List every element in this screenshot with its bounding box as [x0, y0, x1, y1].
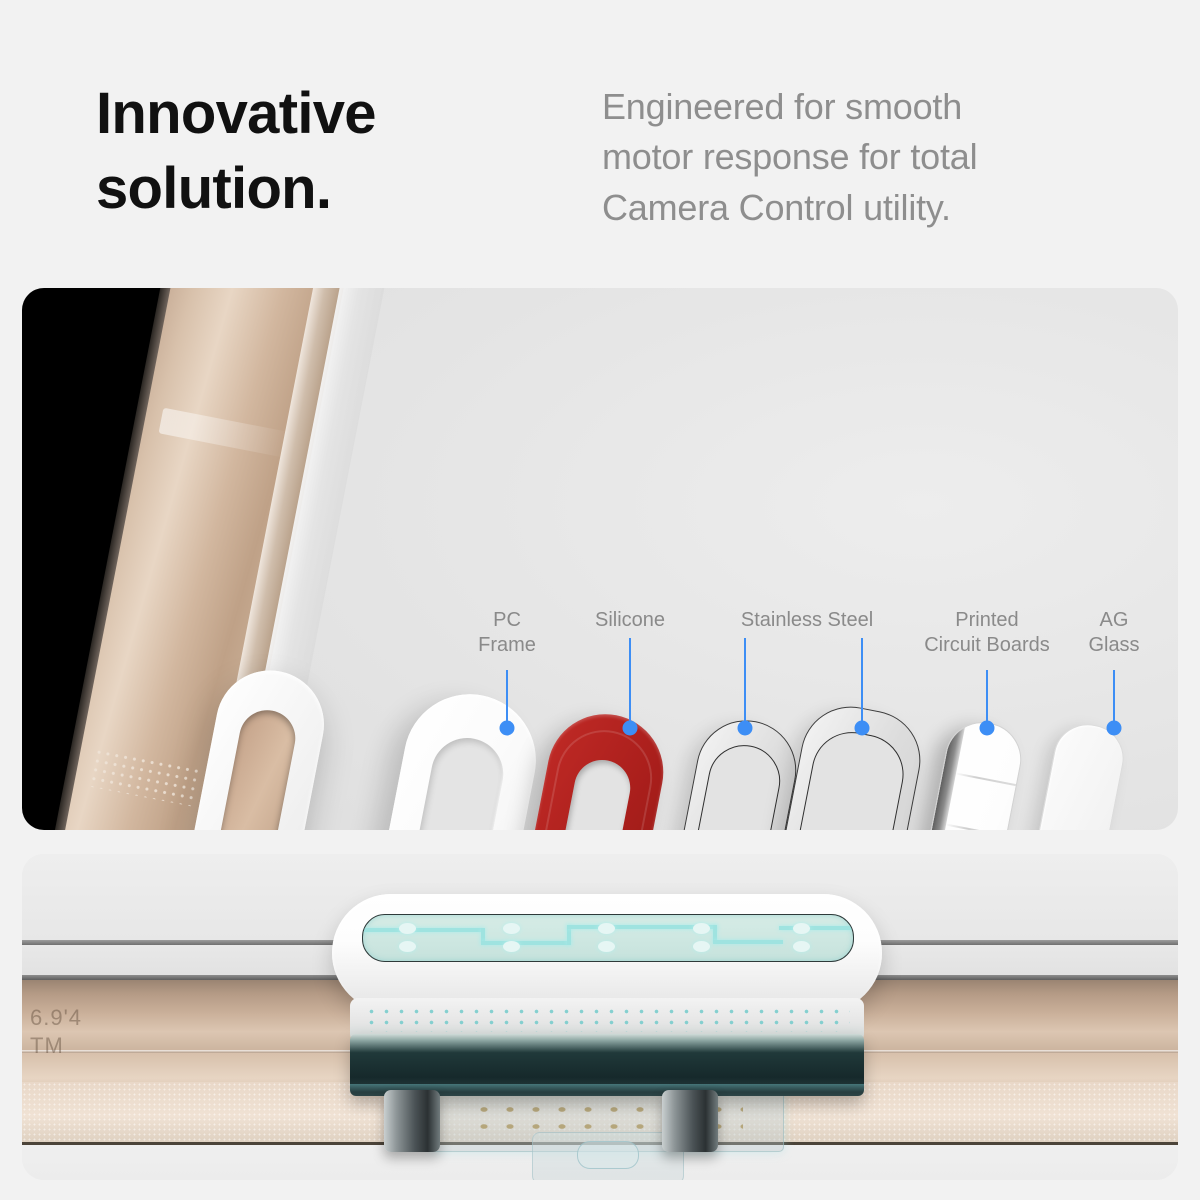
- circuit-pad: [503, 941, 520, 952]
- callout-line-ag-glass: [1113, 670, 1115, 726]
- circuit-trace: [363, 928, 483, 932]
- callout-label-printed-circuit-boards: Printed Circuit Boards: [924, 608, 1050, 658]
- pcb-segment-divider: [955, 772, 1016, 785]
- button-support-pillar: [384, 1090, 440, 1152]
- callout-line-stainless-steel-2: [861, 638, 863, 726]
- callout-label-pc-frame: PC Frame: [478, 608, 536, 658]
- callout-dot-silicone: [623, 721, 638, 736]
- circuit-pad: [693, 923, 710, 934]
- callout-dot-printed-circuit-boards: [980, 721, 995, 736]
- callout-dot-stainless-steel-1: [738, 721, 753, 736]
- callout-line-pc-frame: [506, 670, 508, 726]
- callout-label-silicone: Silicone: [595, 608, 665, 633]
- pcb-segment-divider: [945, 823, 1006, 830]
- circuit-pad: [793, 941, 810, 952]
- button-support-pillar: [662, 1090, 718, 1152]
- circuit-pad: [399, 941, 416, 952]
- circuit-pad: [598, 941, 615, 952]
- circuit-pad: [693, 941, 710, 952]
- circuit-trace: [713, 940, 783, 944]
- circuit-trace: [779, 926, 853, 930]
- callout-line-stainless-steel-1: [744, 638, 746, 726]
- camera-control-button-assembly: [332, 894, 882, 1144]
- circuit-pad: [399, 923, 416, 934]
- component-stainless-steel-ring-1: [639, 712, 805, 830]
- callout-label-stainless-steel: Stainless Steel: [741, 608, 873, 633]
- sensor-dot-array: [364, 1006, 850, 1032]
- callout-line-printed-circuit-boards: [986, 670, 988, 726]
- circuit-pad: [793, 923, 810, 934]
- page-subtitle: Engineered for smooth motor response for…: [602, 82, 1132, 233]
- button-glass-surface: [362, 914, 854, 962]
- page-title: Innovative solution.: [96, 76, 376, 227]
- button-module-body: [350, 1034, 864, 1096]
- component-pc-frame: [345, 683, 547, 830]
- header: Innovative solution. Engineered for smoo…: [0, 0, 1200, 288]
- circuit-pad: [598, 923, 615, 934]
- engraved-model-text: 6.9'4 TM: [30, 1004, 82, 1059]
- callout-dot-pc-frame: [500, 721, 515, 736]
- exploded-view-panel: PC Frame Silicone Stainless Steel Printe…: [22, 288, 1178, 830]
- callout-dot-ag-glass: [1107, 721, 1122, 736]
- circuit-pad: [503, 923, 520, 934]
- circuit-trace: [481, 941, 571, 945]
- callout-dot-stainless-steel-2: [855, 721, 870, 736]
- callout-label-ag-glass: AG Glass: [1088, 608, 1139, 658]
- callout-line-silicone: [629, 638, 631, 726]
- detail-view-panel: 6.9'4 TM: [22, 854, 1178, 1180]
